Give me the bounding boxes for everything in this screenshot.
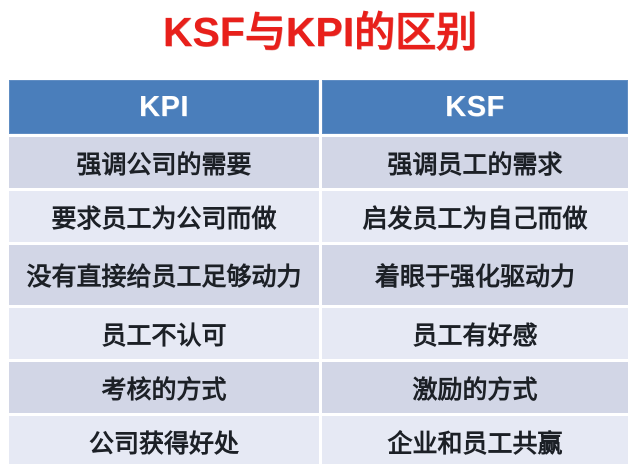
table-row: 公司获得好处 企业和员工共赢: [9, 416, 628, 464]
table-row: 强调公司的需要 强调员工的需求: [9, 137, 628, 191]
cell-kpi-2: 要求员工为公司而做: [9, 191, 322, 245]
cell-kpi-1: 强调公司的需要: [9, 137, 322, 191]
column-header-ksf: KSF: [322, 80, 628, 137]
cell-kpi-5: 考核的方式: [9, 362, 322, 416]
cell-kpi-6: 公司获得好处: [9, 416, 322, 464]
table-row: 考核的方式 激励的方式: [9, 362, 628, 416]
column-header-kpi: KPI: [9, 80, 322, 137]
cell-ksf-6: 企业和员工共赢: [322, 416, 628, 464]
page-title: KSF与KPI的区别: [0, 2, 640, 66]
table-row: 员工不认可 员工有好感: [9, 308, 628, 362]
slide-canvas: KSF与KPI的区别 KPI KSF 强调公司的需要 强调员工的需求 要求员工为…: [0, 0, 640, 464]
table-row: 没有直接给员工足够动力 着眼于强化驱动力: [9, 245, 628, 308]
cell-ksf-2: 启发员工为自己而做: [322, 191, 628, 245]
cell-kpi-4: 员工不认可: [9, 308, 322, 362]
cell-kpi-3: 没有直接给员工足够动力: [9, 245, 322, 308]
table-row: 要求员工为公司而做 启发员工为自己而做: [9, 191, 628, 245]
table-header-row: KPI KSF: [9, 80, 628, 137]
cell-ksf-4: 员工有好感: [322, 308, 628, 362]
cell-ksf-3: 着眼于强化驱动力: [322, 245, 628, 308]
comparison-table: KPI KSF 强调公司的需要 强调员工的需求 要求员工为公司而做 启发员工为自…: [9, 80, 628, 464]
cell-ksf-5: 激励的方式: [322, 362, 628, 416]
cell-ksf-1: 强调员工的需求: [322, 137, 628, 191]
